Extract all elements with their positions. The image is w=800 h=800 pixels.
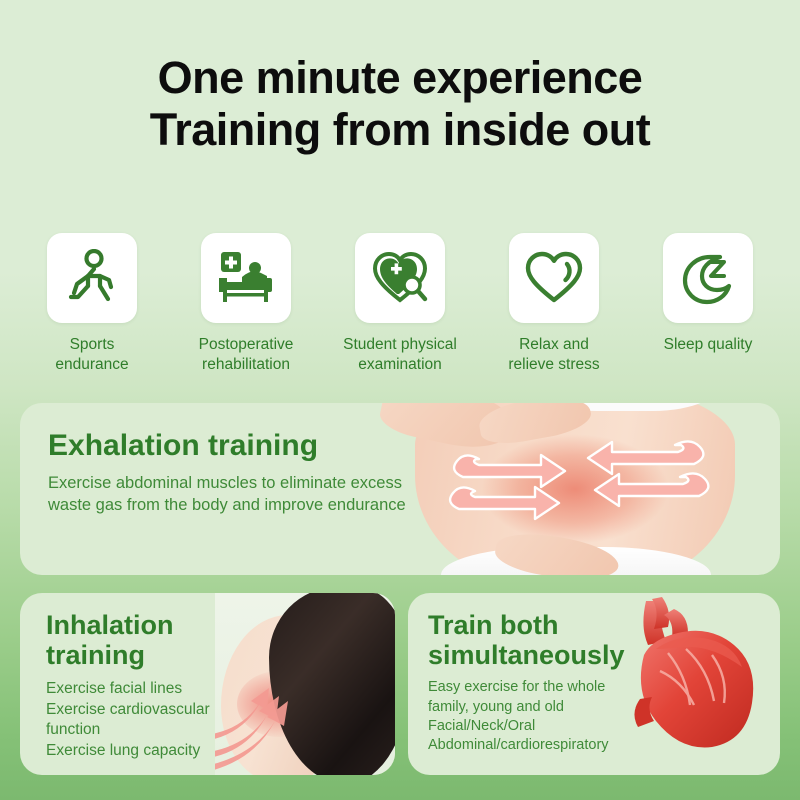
card-title: Train both simultaneously <box>428 611 668 670</box>
feature-tile <box>355 233 445 323</box>
card-train-both-simultaneously[interactable]: Train both simultaneously Easy exercise … <box>408 593 780 775</box>
feature-label: Postoperative rehabilitation <box>199 335 294 375</box>
card-description: Easy exercise for the whole family, youn… <box>428 678 780 755</box>
feature-item-sports-endurance[interactable]: Sports endurance <box>18 233 166 375</box>
heart-outline-icon <box>525 251 583 305</box>
card-exhalation-training[interactable]: Exhalation training Exercise abdominal m… <box>20 403 780 575</box>
page-title: One minute experience Training from insi… <box>0 52 800 156</box>
moon-sleep-icon <box>680 251 736 305</box>
heart-checkup-icon <box>371 250 429 306</box>
title-line-2: Training from inside out <box>0 104 800 156</box>
card-title: Inhalation training <box>46 611 226 670</box>
promotional-poster: One minute experience Training from insi… <box>0 0 800 800</box>
card-inhalation-training[interactable]: Inhalation training Exercise facial line… <box>20 593 395 775</box>
feature-icon-row: Sports endurance <box>18 233 782 375</box>
hospital-bed-icon <box>215 250 277 306</box>
card-text-block: Inhalation training Exercise facial line… <box>20 593 395 761</box>
feature-item-relax-relieve-stress[interactable]: Relax and relieve stress <box>480 233 628 375</box>
feature-tile <box>201 233 291 323</box>
walking-person-icon <box>64 249 120 307</box>
feature-label: Sports endurance <box>55 335 128 375</box>
feature-label: Sleep quality <box>664 335 753 355</box>
feature-label: Student physical examination <box>343 335 457 375</box>
card-text-block: Train both simultaneously Easy exercise … <box>408 593 780 755</box>
card-description: Exercise facial lines Exercise cardiovas… <box>46 679 395 761</box>
card-text-block: Exhalation training Exercise abdominal m… <box>20 403 780 517</box>
feature-tile <box>509 233 599 323</box>
feature-tile <box>663 233 753 323</box>
feature-tile <box>47 233 137 323</box>
card-title: Exhalation training <box>48 429 780 462</box>
feature-item-sleep-quality[interactable]: Sleep quality <box>634 233 782 355</box>
title-line-1: One minute experience <box>0 52 800 104</box>
feature-item-student-physical-examination[interactable]: Student physical examination <box>326 233 474 375</box>
feature-item-postoperative-rehabilitation[interactable]: Postoperative rehabilitation <box>172 233 320 375</box>
card-description: Exercise abdominal muscles to eliminate … <box>48 473 780 517</box>
feature-label: Relax and relieve stress <box>508 335 599 375</box>
